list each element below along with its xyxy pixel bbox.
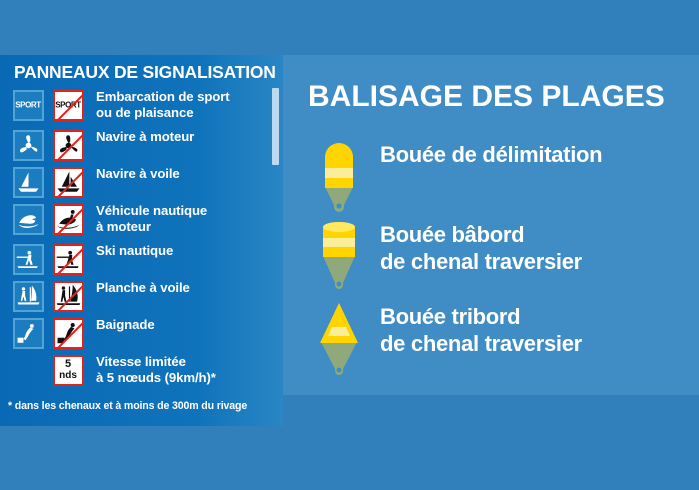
port-channel-buoy-glyph bbox=[308, 215, 370, 293]
speed-limit-sign-icon: 5 nds bbox=[53, 355, 84, 386]
signage-footnote: * dans les chenaux et à moins de 300m du… bbox=[8, 400, 278, 412]
windsurf-icon bbox=[13, 281, 44, 312]
list-item[interactable]: Bouée bâbord de chenal traversier bbox=[283, 215, 699, 293]
list-item-label: Navire à voile bbox=[88, 164, 180, 182]
allow-icon-cell: SPORT bbox=[8, 87, 48, 123]
list-item-label-line1: Embarcation de sport bbox=[96, 89, 230, 104]
prohibit-icon-cell bbox=[48, 315, 88, 351]
prohibit-icon-cell: SPORT bbox=[48, 87, 88, 123]
port-channel-buoy-icon bbox=[308, 215, 370, 293]
list-item-label-line1: Bouée tribord bbox=[380, 304, 520, 329]
propeller-icon bbox=[13, 130, 44, 161]
list-item[interactable]: Baignade bbox=[8, 315, 276, 352]
signage-list: SPORT SPORT Embarcation de sport ou de p… bbox=[8, 87, 276, 392]
list-item-label: Bouée tribord de chenal traversier bbox=[380, 303, 690, 357]
list-item-label: Vitesse limitée à 5 nœuds (9km/h)* bbox=[88, 352, 216, 386]
list-item-label-line2: de chenal traversier bbox=[380, 248, 690, 275]
list-item-label-line1: Navire à voile bbox=[96, 166, 180, 181]
list-item-label: Bouée bâbord de chenal traversier bbox=[380, 221, 690, 275]
swimmer-glyph bbox=[15, 320, 42, 347]
list-item[interactable]: 5 nds Vitesse limitée à 5 nœuds (9km/h)* bbox=[8, 352, 276, 392]
speed-limit-value: 5 bbox=[65, 359, 71, 370]
starboard-channel-buoy-icon bbox=[308, 297, 370, 375]
sport-craft-prohibited-icon: SPORT bbox=[53, 90, 84, 121]
swimmer-glyph bbox=[55, 320, 82, 347]
swimmer-icon bbox=[13, 318, 44, 349]
jetski-glyph bbox=[55, 206, 82, 233]
waterski-icon bbox=[13, 244, 44, 275]
sport-craft-icon: SPORT bbox=[13, 90, 44, 121]
delimitation-buoy-icon bbox=[308, 135, 370, 213]
waterski-glyph bbox=[55, 246, 82, 273]
list-item-label: Bouée de délimitation bbox=[380, 141, 690, 168]
windsurf-glyph bbox=[15, 283, 42, 310]
sport-craft-icon-label: SPORT bbox=[15, 101, 42, 110]
jetski-icon bbox=[13, 204, 44, 235]
beach-marking-panel: BALISAGE DES PLAGES Bouée de délimitatio… bbox=[283, 55, 699, 395]
waterski-glyph bbox=[15, 246, 42, 273]
sailboat-prohibited-icon bbox=[53, 167, 84, 198]
list-item-label-line1: Baignade bbox=[96, 317, 155, 332]
beach-marking-title: BALISAGE DES PLAGES bbox=[308, 80, 665, 114]
list-item-label-line2: de chenal traversier bbox=[380, 330, 690, 357]
list-item[interactable]: Véhicule nautique à moteur bbox=[8, 201, 276, 241]
waterski-prohibited-icon bbox=[53, 244, 84, 275]
sailboat-icon bbox=[13, 167, 44, 198]
list-item-label-line1: Navire à moteur bbox=[96, 129, 194, 144]
list-item-label: Véhicule nautique à moteur bbox=[88, 201, 207, 235]
list-item-label: Baignade bbox=[88, 315, 155, 333]
list-item-label: Embarcation de sport ou de plaisance bbox=[88, 87, 230, 121]
list-item-label-line1: Ski nautique bbox=[96, 243, 173, 258]
allow-icon-cell bbox=[8, 278, 48, 314]
delimitation-buoy-glyph bbox=[308, 135, 370, 213]
list-item[interactable]: Navire à voile bbox=[8, 164, 276, 201]
prohibit-icon-cell bbox=[48, 164, 88, 200]
list-item[interactable]: Planche à voile bbox=[8, 278, 276, 315]
windsurf-glyph bbox=[55, 283, 82, 310]
sport-craft-prohibited-icon-label: SPORT bbox=[55, 101, 82, 110]
list-item[interactable]: Ski nautique bbox=[8, 241, 276, 278]
list-item-label-line1: Véhicule nautique bbox=[96, 203, 207, 218]
list-item-label-line2: ou de plaisance bbox=[96, 105, 230, 121]
starboard-channel-buoy-glyph bbox=[308, 297, 370, 375]
allow-icon-cell bbox=[8, 164, 48, 200]
prohibit-icon-cell bbox=[48, 127, 88, 163]
list-item[interactable]: Bouée de délimitation bbox=[283, 135, 699, 213]
prohibit-icon-cell: 5 nds bbox=[48, 352, 88, 388]
allow-icon-cell bbox=[8, 352, 48, 388]
propeller-prohibited-icon bbox=[53, 130, 84, 161]
list-item-label-line1: Bouée de délimitation bbox=[380, 142, 602, 167]
list-item-label: Ski nautique bbox=[88, 241, 173, 259]
speed-limit-unit: nds bbox=[59, 370, 77, 381]
list-item-label-line2: à moteur bbox=[96, 219, 207, 235]
prohibit-icon-cell bbox=[48, 278, 88, 314]
swimmer-prohibited-icon bbox=[53, 318, 84, 349]
prohibit-icon-cell bbox=[48, 201, 88, 237]
list-item-label: Navire à moteur bbox=[88, 127, 194, 145]
signage-panel-title: PANNEAUX DE SIGNALISATION bbox=[14, 62, 279, 83]
jetski-prohibited-icon bbox=[53, 204, 84, 235]
list-item-label-line2: à 5 nœuds (9km/h)* bbox=[96, 370, 216, 386]
infographic-canvas: PANNEAUX DE SIGNALISATION SPORT SPORT Em… bbox=[0, 0, 699, 490]
sailboat-glyph bbox=[55, 169, 82, 196]
list-item-label-line1: Vitesse limitée bbox=[96, 354, 186, 369]
signage-panel: PANNEAUX DE SIGNALISATION SPORT SPORT Em… bbox=[0, 55, 283, 426]
allow-icon-cell bbox=[8, 127, 48, 163]
sailboat-glyph bbox=[15, 169, 42, 196]
list-item[interactable]: Bouée tribord de chenal traversier bbox=[283, 297, 699, 375]
allow-icon-cell bbox=[8, 315, 48, 351]
prohibit-icon-cell bbox=[48, 241, 88, 277]
list-item-label-line1: Bouée bâbord bbox=[380, 222, 524, 247]
allow-icon-cell bbox=[8, 241, 48, 277]
propeller-glyph bbox=[55, 132, 82, 159]
windsurf-prohibited-icon bbox=[53, 281, 84, 312]
list-item[interactable]: SPORT SPORT Embarcation de sport ou de p… bbox=[8, 87, 276, 127]
propeller-glyph bbox=[15, 132, 42, 159]
list-item-label-line1: Planche à voile bbox=[96, 280, 190, 295]
list-item[interactable]: Navire à moteur bbox=[8, 127, 276, 164]
jetski-glyph bbox=[15, 206, 42, 233]
allow-icon-cell bbox=[8, 201, 48, 237]
list-item-label: Planche à voile bbox=[88, 278, 190, 296]
